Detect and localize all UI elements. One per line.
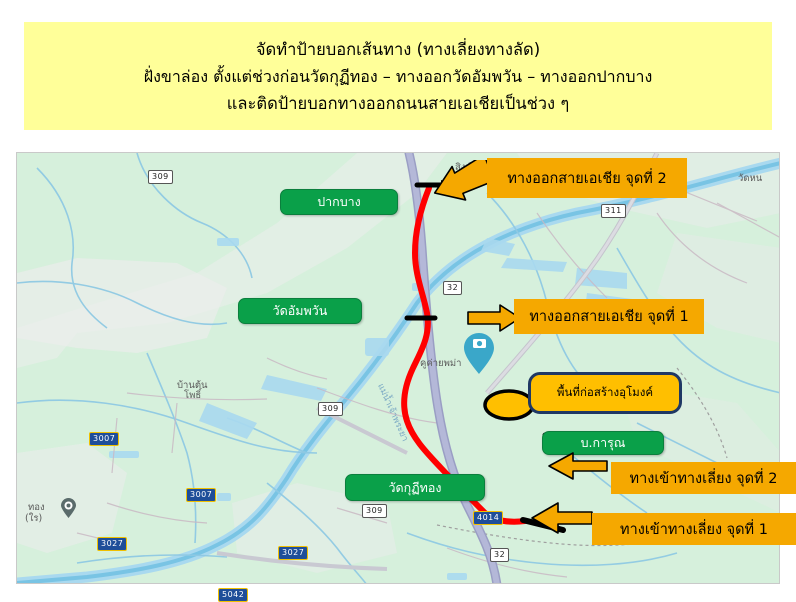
callout-asia-exit-1[interactable]: ทางออกสายเอเชีย จุดที่ 1 — [514, 299, 704, 334]
green-label-pak-bang-text: ปากบาง — [317, 192, 361, 212]
green-label-pak-bang[interactable]: ปากบาง — [280, 189, 398, 215]
shield-32-low: 32 — [490, 548, 509, 562]
callout-tunnel-construction-area[interactable]: พื้นที่ก่อสร้างอุโมงค์ — [528, 372, 682, 414]
arrow-asia-exit-2 — [424, 160, 494, 202]
callout-asia-exit-2-text: ทางออกสายเอเชีย จุดที่ 2 — [507, 167, 666, 190]
shield-3027: 3027 — [97, 537, 127, 551]
title-banner: จัดทำป้ายบอกเส้นทาง (ทางเลี่ยงทางลัด) ฝั… — [24, 22, 772, 130]
callout-bypass-entry-1[interactable]: ทางเข้าทางเลี่ยง จุดที่ 1 — [592, 513, 796, 545]
shield-32-mid: 32 — [443, 281, 462, 295]
place-label-khu-khai: คูค่ายพม่า — [420, 356, 461, 371]
shield-309-mid: 309 — [318, 402, 343, 416]
shield-309-top: 309 — [148, 170, 173, 184]
callout-asia-exit-1-text: ทางออกสายเอเชีย จุดที่ 1 — [529, 305, 688, 328]
callout-tunnel-construction-area-text: พื้นที่ก่อสร้างอุโมงค์ — [557, 384, 653, 402]
green-label-wat-amphawan-text: วัดอัมพวัน — [273, 301, 328, 321]
arrow-bypass-entry-1 — [528, 500, 594, 536]
green-label-wat-kudithong-text: วัดกุฏีทอง — [389, 478, 442, 498]
callout-bypass-entry-2-text: ทางเข้าทางเลี่ยง จุดที่ 2 — [630, 467, 778, 490]
title-line-2: ฝั่งขาล่อง ตั้งแต่ช่วงก่อนวัดกุฏีทอง – ท… — [144, 63, 653, 90]
title-line-1: จัดทำป้ายบอกเส้นทาง (ทางเลี่ยงทางลัด) — [256, 36, 540, 63]
callout-bypass-entry-2[interactable]: ทางเข้าทางเลี่ยง จุดที่ 2 — [611, 462, 796, 494]
arrow-bypass-entry-2 — [545, 449, 609, 483]
callout-bypass-entry-1-text: ทางเข้าทางเลี่ยง จุดที่ 1 — [620, 518, 768, 541]
place-label-temple-2: (ใร) — [25, 511, 42, 526]
shield-309-low: 309 — [362, 504, 387, 518]
shield-3027-b: 3027 — [278, 546, 308, 560]
shield-5042: 5042 — [218, 588, 248, 602]
place-label-ban-ton-pho-2: โพธิ์ — [184, 388, 201, 403]
shield-3007-a: 3007 — [89, 432, 119, 446]
green-label-wat-kudithong[interactable]: วัดกุฏีทอง — [345, 474, 485, 501]
callout-asia-exit-2[interactable]: ทางออกสายเอเชีย จุดที่ 2 — [487, 158, 687, 198]
shield-4014: 4014 — [473, 511, 503, 525]
title-line-3: และติดป้ายบอกทางออกถนนสายเอเชียเป็นช่วง … — [227, 90, 569, 117]
temple-poi-pin[interactable] — [60, 498, 76, 518]
shield-311: 311 — [601, 204, 626, 218]
green-label-wat-amphawan[interactable]: วัดอัมพวัน — [238, 298, 362, 324]
place-label-wat-nu: วัดหน — [738, 171, 762, 186]
shield-3007-b: 3007 — [186, 488, 216, 502]
